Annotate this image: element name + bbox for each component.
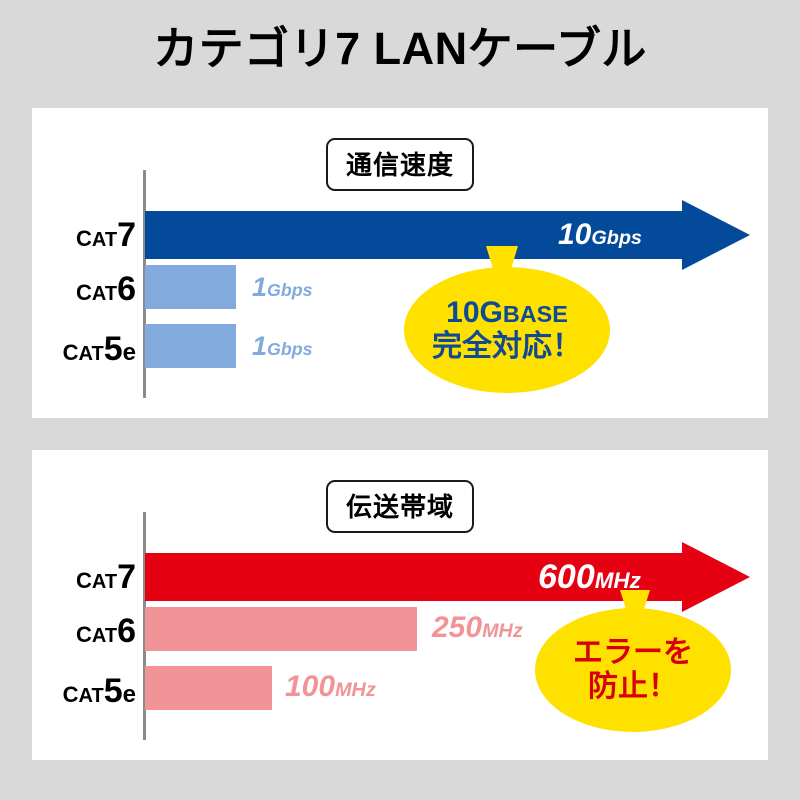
- cat-prefix: C: [63, 340, 79, 365]
- category-label-cat7-band: CAT7: [58, 560, 136, 594]
- cat-prefix: C: [76, 280, 92, 305]
- cat-small: AT: [92, 283, 117, 305]
- bar-value-cat5e-band: 100MHz: [285, 672, 376, 702]
- panel-communication-speed: 通信速度 CAT7 10Gbps CAT6 1Gbps CAT5e 1Gbps …: [32, 108, 768, 418]
- bar-value-number: 1: [252, 272, 267, 302]
- bar-value-number: 1: [252, 331, 267, 361]
- cat-small: AT: [92, 229, 117, 251]
- bar-value-number: 100: [285, 670, 335, 703]
- category-label-cat7-speed: CAT7: [58, 218, 136, 252]
- callout-bubble-10gbase: 10GBASE 完全対応！: [404, 267, 610, 393]
- bar-value-number: 10: [558, 218, 591, 251]
- callout-bubble-error-prevention: エラーを 防止！: [535, 608, 731, 732]
- bar-cat7-band-head: [682, 542, 750, 612]
- bar-value-unit: Gbps: [591, 227, 642, 249]
- cat-prefix: C: [63, 682, 79, 707]
- callout-line-1-main: 10G: [446, 296, 503, 329]
- cat-suffix: e: [123, 681, 136, 708]
- bar-cat7-speed-head: [682, 200, 750, 270]
- bar-cat7-speed: 10Gbps: [145, 211, 750, 259]
- callout-line-1-main: エラーを: [573, 636, 693, 669]
- bar-cat6-band: [145, 607, 417, 651]
- bar-cat5e-speed: [145, 324, 236, 368]
- page-title: カテゴリ7 LANケーブル: [0, 24, 800, 74]
- cat-prefix: C: [76, 622, 92, 647]
- category-label-cat6-band: CAT6: [58, 614, 136, 648]
- bar-value-unit: Gbps: [267, 280, 313, 300]
- cat-number: 5: [104, 672, 123, 710]
- callout-line-1-small: BASE: [503, 301, 568, 327]
- cat-small: AT: [92, 625, 117, 647]
- cat-number: 6: [117, 612, 136, 650]
- bar-value-cat7-band: 600MHz: [538, 560, 641, 594]
- bar-value-unit: MHz: [482, 620, 523, 642]
- bar-value-cat6-speed: 1Gbps: [252, 274, 313, 301]
- panel-transmission-bandwidth: 伝送帯域 CAT7 600MHz CAT6 250MHz CAT5e 100MH…: [32, 450, 768, 760]
- cat-number: 7: [117, 216, 136, 254]
- bar-value-cat6-band: 250MHz: [432, 613, 523, 643]
- cat-prefix: C: [76, 226, 92, 251]
- callout-line-2: 完全対応！: [432, 330, 582, 364]
- bar-value-number: 250: [432, 611, 482, 644]
- section-heading-speed: 通信速度: [326, 138, 474, 191]
- bar-value-number: 600: [538, 558, 595, 596]
- cat-suffix: e: [123, 339, 136, 366]
- bar-value-cat7-speed: 10Gbps: [558, 220, 642, 250]
- bar-value-unit: MHz: [335, 679, 376, 701]
- bar-value-unit: Gbps: [267, 339, 313, 359]
- category-label-cat5e-speed: CAT5e: [50, 332, 136, 366]
- callout-line-2: 防止！: [588, 670, 678, 704]
- cat-number: 6: [117, 270, 136, 308]
- category-label-cat6-speed: CAT6: [58, 272, 136, 306]
- cat-small: AT: [79, 685, 104, 707]
- cat-number: 7: [117, 558, 136, 596]
- bar-cat6-speed: [145, 265, 236, 309]
- cat-small: AT: [92, 571, 117, 593]
- bar-value-cat5e-speed: 1Gbps: [252, 333, 313, 360]
- callout-line-1: 10GBASE: [446, 296, 568, 330]
- cat-small: AT: [79, 343, 104, 365]
- category-label-cat5e-band: CAT5e: [50, 674, 136, 708]
- section-heading-band: 伝送帯域: [326, 480, 474, 533]
- cat-prefix: C: [76, 568, 92, 593]
- callout-line-1: エラーを: [573, 636, 693, 670]
- bar-cat5e-band: [145, 666, 272, 710]
- bar-cat7-band: 600MHz: [145, 553, 750, 601]
- cat-number: 5: [104, 330, 123, 368]
